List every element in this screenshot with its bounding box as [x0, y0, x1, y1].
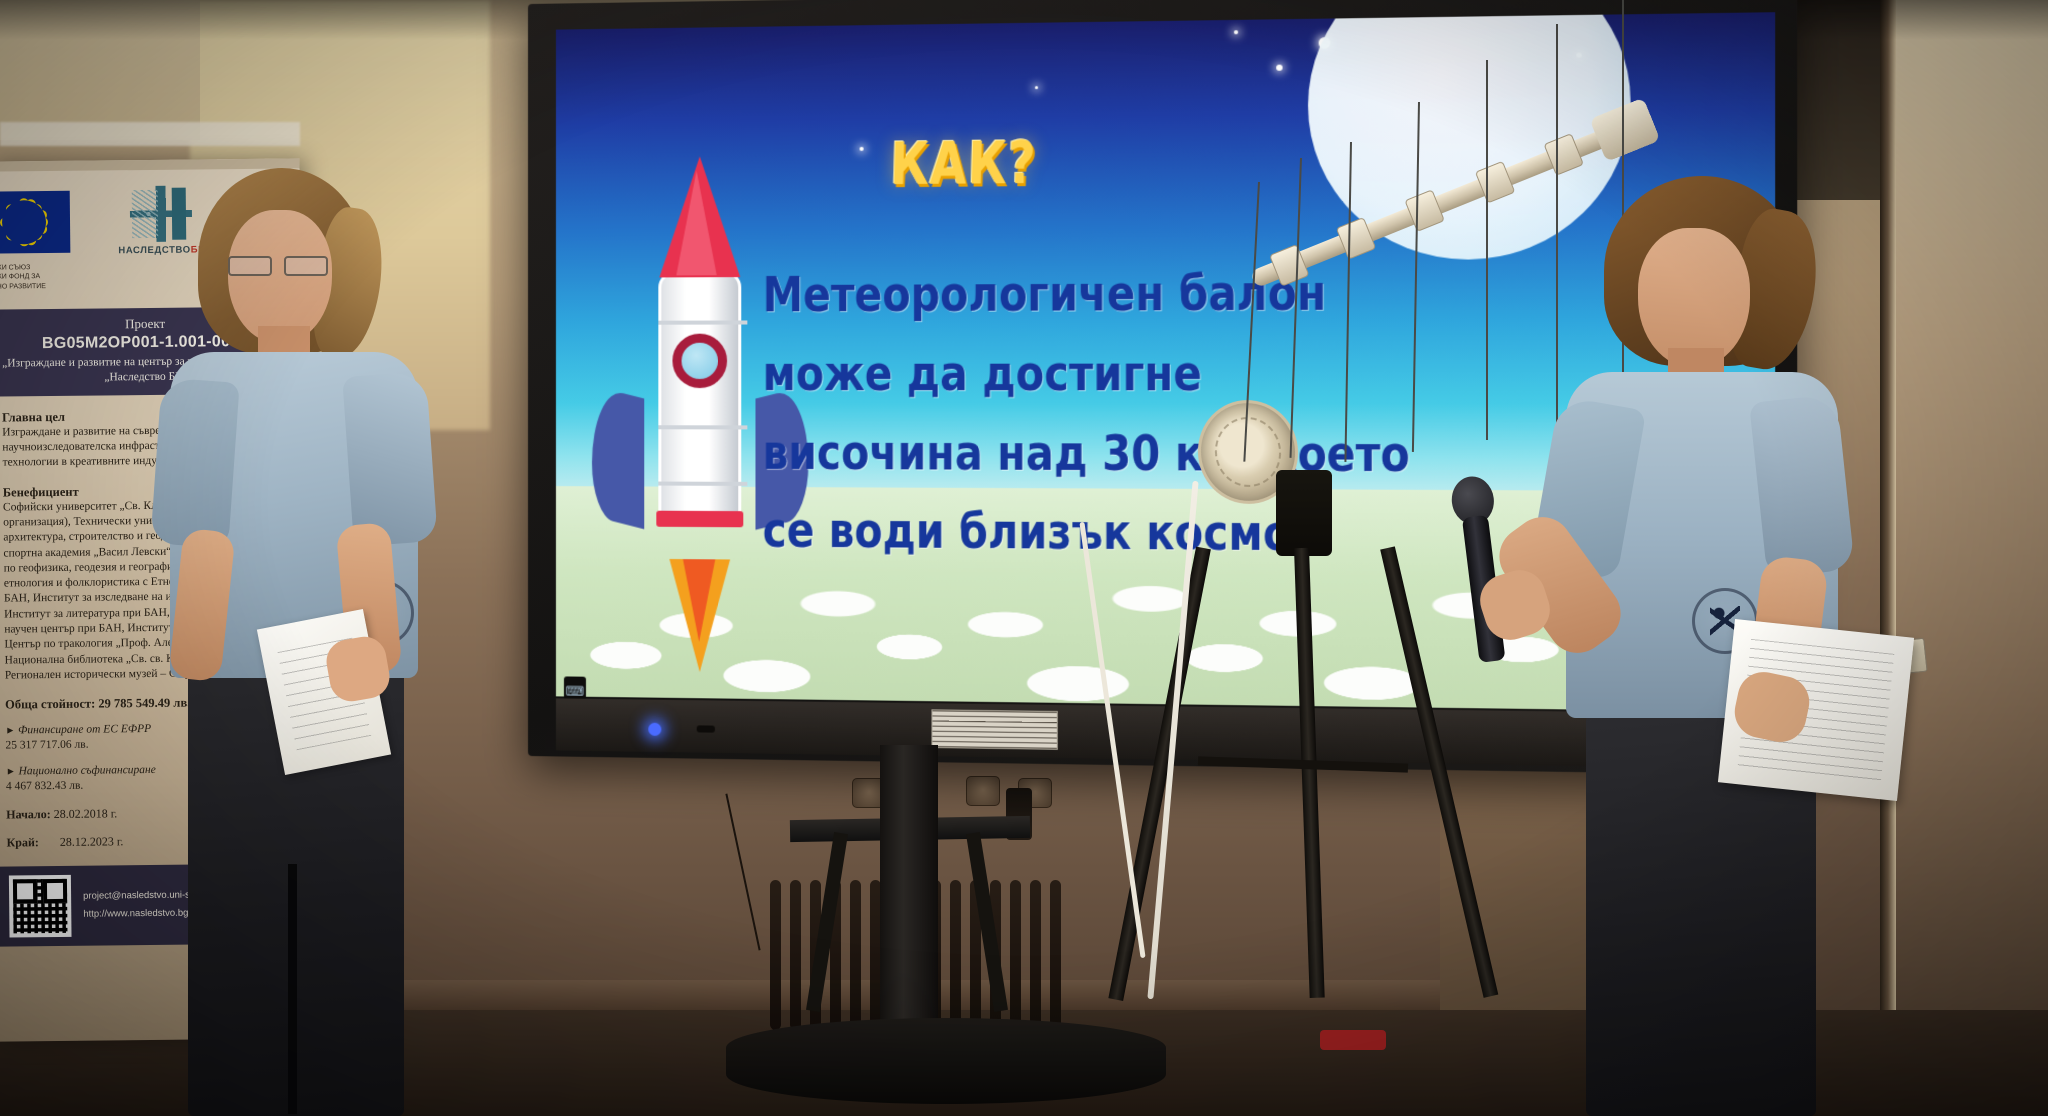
- bullet-arrow-icon: ►: [5, 725, 15, 736]
- display-spec-label: [931, 709, 1057, 749]
- slide-body-line-2: може да достигне: [763, 334, 1582, 415]
- eu-flag-icon: ЕВРОПЕЙСКИ СЪЮЗ ЕВРОПЕЙСКИ ФОНД ЗА РЕГИО…: [0, 191, 70, 254]
- end-date-label: Край:: [6, 835, 38, 849]
- sleeve-left: [150, 377, 239, 548]
- wall-outlet[interactable]: [966, 776, 1000, 806]
- eu-flag-caption: ЕВРОПЕЙСКИ СЪЮЗ ЕВРОПЕЙСКИ ФОНД ЗА РЕГИО…: [0, 263, 79, 293]
- qr-code-icon[interactable]: [9, 875, 72, 938]
- funding-value-eu: 25 317 717.06 лв.: [5, 739, 88, 752]
- slide-title: КАК?: [889, 128, 1037, 198]
- rocket-body-icon: [658, 271, 741, 523]
- sleeve-right: [1749, 394, 1855, 578]
- rocket-flame-inner-icon: [683, 559, 715, 642]
- slide-body: Метеорологичен балон може да достигне ви…: [763, 253, 1582, 577]
- power-led-icon: [648, 723, 661, 736]
- ir-receiver-icon: [697, 725, 715, 732]
- glasses-icon: [226, 256, 330, 272]
- presenter-right: [1540, 176, 1900, 1116]
- stand-base: [726, 1018, 1166, 1104]
- face: [1638, 228, 1750, 368]
- eu-stars-icon: [2, 200, 46, 244]
- sleeve-right: [342, 371, 438, 546]
- funding-label-national: Национално съфинансиране: [19, 764, 156, 777]
- end-date-value: 28.12.2023 г.: [60, 834, 124, 849]
- slide-body-line-1: Метеорологичен балон: [763, 253, 1582, 336]
- funding-label-eu: Финансиране от ЕС ЕФРР: [18, 723, 151, 736]
- tripod-red-accent: [1320, 1030, 1386, 1050]
- face: [228, 210, 332, 344]
- rocket-window-icon: [672, 334, 727, 388]
- antenna-element: [1486, 60, 1488, 440]
- wall-corner-edge: [1886, 0, 2048, 1116]
- bullet-arrow-icon: ►: [6, 766, 16, 777]
- funding-value-national: 4 467 832.43 лв.: [6, 780, 83, 793]
- leg-separation: [288, 864, 297, 1114]
- start-date-label: Начало:: [6, 807, 51, 821]
- wall-trim-band: [0, 122, 300, 146]
- rocket-fin-left-icon: [592, 386, 644, 530]
- rocket-illustration: [614, 156, 786, 580]
- rocket-stripe-icon: [656, 511, 743, 528]
- stand-column: [880, 745, 938, 1045]
- tripod-head: [1276, 470, 1332, 556]
- start-date-value: 28.02.2018 г.: [54, 806, 118, 821]
- total-cost-label: Обща стойност:: [5, 697, 95, 712]
- rocket-nose-highlight-icon: [676, 170, 716, 275]
- presenter-left: [150, 168, 480, 1116]
- presentation-scene: ЕВРОПЕЙСКИ СЪЮЗ ЕВРОПЕЙСКИ ФОНД ЗА РЕГИО…: [0, 0, 2048, 1116]
